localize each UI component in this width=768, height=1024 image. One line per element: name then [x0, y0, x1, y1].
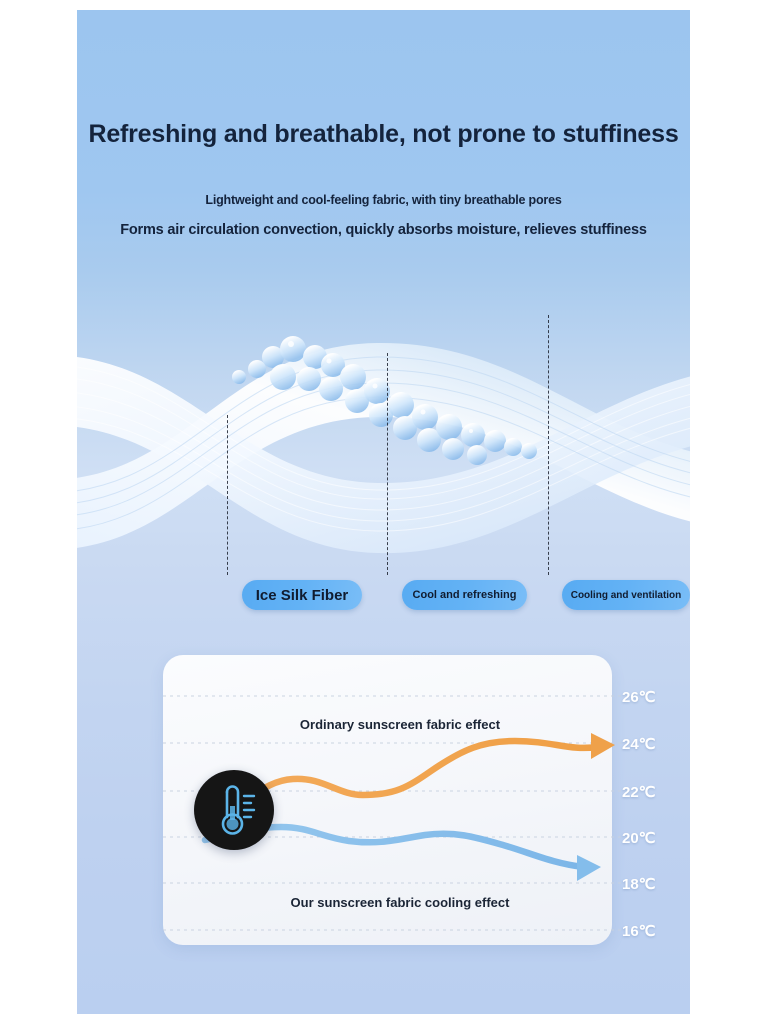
y-axis-label-22: 22℃ [622, 783, 656, 801]
subtitle-line-2: Forms air circulation convection, quickl… [77, 220, 690, 240]
ice-silk-fiber-illustration [77, 265, 690, 565]
chart-annotation-ours: Our sunscreen fabric cooling effect [240, 895, 560, 910]
infographic-panel: Refreshing and breathable, not prone to … [77, 10, 690, 1014]
leader-line-1 [227, 415, 228, 575]
y-axis-label-18: 18℃ [622, 875, 656, 893]
page-title: Refreshing and breathable, not prone to … [77, 118, 690, 150]
feature-pill-ice-silk-fiber[interactable]: Ice Silk Fiber [242, 580, 362, 610]
thermometer-icon [194, 770, 274, 850]
y-axis-label-16: 16℃ [622, 922, 656, 940]
subtitle-line-1: Lightweight and cool-feeling fabric, wit… [77, 192, 690, 209]
leader-line-3 [548, 315, 549, 575]
feature-pill-cooling-and-ventilation[interactable]: Cooling and ventilation [562, 580, 690, 610]
y-axis-label-24: 24℃ [622, 735, 656, 753]
y-axis-label-26: 26℃ [622, 688, 656, 706]
leader-line-2 [387, 353, 388, 575]
y-axis-label-20: 20℃ [622, 829, 656, 847]
feature-pill-label: Ice Silk Fiber [256, 587, 349, 604]
chart-annotation-ordinary: Ordinary sunscreen fabric effect [240, 717, 560, 732]
thermometer-badge [194, 770, 274, 850]
feature-pill-label: Cool and refreshing [413, 589, 517, 601]
feature-pill-cool-and-refreshing[interactable]: Cool and refreshing [402, 580, 527, 610]
product-infographic-page: Refreshing and breathable, not prone to … [0, 0, 768, 1024]
feature-pill-label: Cooling and ventilation [571, 590, 682, 601]
